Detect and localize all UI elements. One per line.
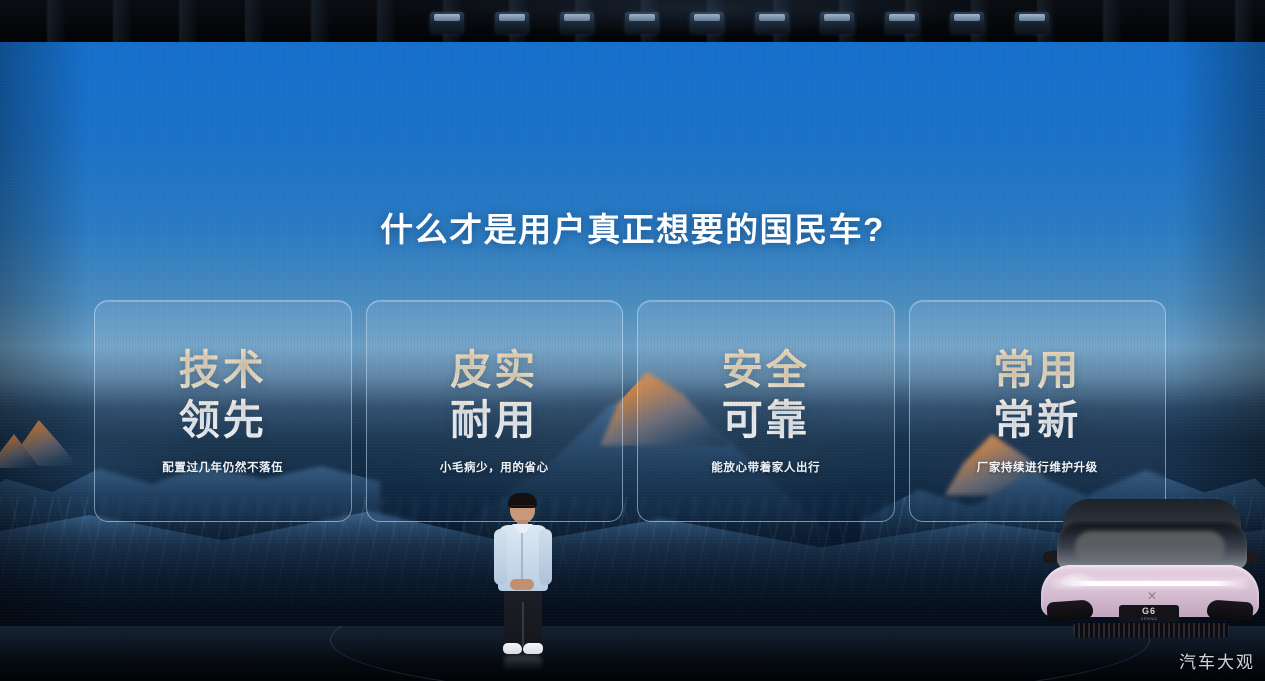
car-license-plate: G6 XPENG [1119, 605, 1179, 622]
feature-card-2-heading-line2: 耐用 [367, 395, 623, 445]
car-left-headlight [1046, 599, 1093, 621]
presenter-right-shoe [523, 643, 543, 654]
feature-card-1-subtitle: 配置过几年仍然不落伍 [95, 459, 351, 475]
car-plate-text: G6 [1142, 607, 1156, 616]
car-front-grille [1073, 623, 1229, 638]
feature-card-2-heading: 皮实 耐用 [367, 345, 623, 445]
feature-card-4-subtitle: 厂家持续进行维护升级 [910, 459, 1166, 475]
watermark: 汽车大观 [1179, 648, 1255, 673]
feature-card-3-subtitle: 能放心带着家人出行 [638, 459, 894, 475]
ceiling-haze [0, 0, 1265, 44]
feature-card-2-subtitle: 小毛病少，用的省心 [367, 459, 623, 475]
feature-card-3-heading-line1: 安全 [722, 347, 810, 393]
presentation-photo: 什么才是用户真正想要的国民车? 技术 领先 配置过几年仍然不落伍 皮实 耐用 小… [0, 0, 1265, 681]
car-right-headlight [1206, 599, 1253, 621]
feature-card-4-heading-line2: 常新 [910, 395, 1166, 445]
car-brand-logo: ✕ [1141, 591, 1163, 601]
feature-card-1[interactable]: 技术 领先 配置过几年仍然不落伍 [94, 300, 352, 522]
feature-card-4-heading-line1: 常用 [993, 347, 1081, 393]
car-cabin-interior [1075, 531, 1225, 565]
slide-title: 什么才是用户真正想要的国民车? [0, 203, 1265, 251]
feature-card-2[interactable]: 皮实 耐用 小毛病少，用的省心 [366, 300, 624, 522]
stage-ceiling [0, 0, 1265, 44]
presenter-reflection [504, 655, 542, 671]
feature-card-3-heading: 安全 可靠 [638, 345, 894, 445]
presenter [492, 495, 554, 661]
glasses-icon [511, 505, 534, 510]
presenter-hands [510, 579, 534, 590]
feature-card-4[interactable]: 常用 常新 厂家持续进行维护升级 [909, 300, 1167, 522]
presenter-left-shoe [503, 643, 522, 654]
feature-card-2-heading-line1: 皮实 [450, 347, 538, 393]
feature-card-row: 技术 领先 配置过几年仍然不落伍 皮实 耐用 小毛病少，用的省心 安全 可靠 能… [94, 300, 1166, 522]
feature-card-4-heading: 常用 常新 [910, 345, 1166, 445]
showcase-car: ✕ G6 XPENG [1035, 495, 1265, 640]
presenter-left-arm [494, 529, 507, 585]
feature-card-1-heading-line1: 技术 [179, 347, 267, 393]
car-light-bar [1053, 581, 1247, 586]
feature-card-3-heading-line2: 可靠 [638, 395, 894, 445]
feature-card-1-heading-line2: 领先 [95, 395, 351, 445]
presenter-pants [504, 588, 542, 646]
presenter-right-arm [539, 529, 552, 585]
car-plate-subtext: XPENG [1141, 616, 1158, 621]
feature-card-3[interactable]: 安全 可靠 能放心带着家人出行 [637, 300, 895, 522]
feature-card-1-heading: 技术 领先 [95, 345, 351, 445]
